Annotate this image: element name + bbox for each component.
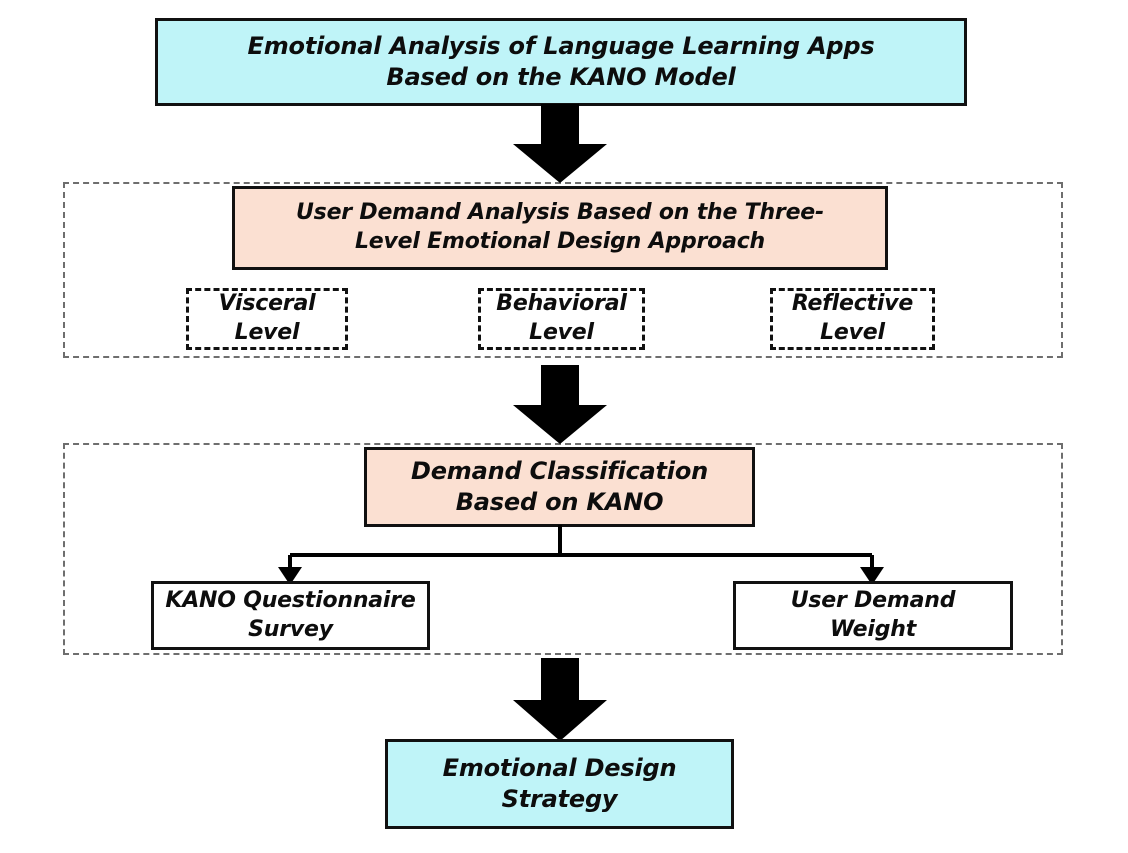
arrow-root-to-demand-analysis <box>510 104 610 184</box>
node-user-demand-analysis-line2: Level Emotional Design Approach <box>355 229 765 254</box>
node-visceral-level-line1: Visceral <box>219 291 316 316</box>
node-demand-classification[interactable]: Demand Classification Based on KANO <box>364 447 755 527</box>
node-visceral-level[interactable]: Visceral Level <box>186 288 348 350</box>
node-reflective-level[interactable]: Reflective Level <box>770 288 935 350</box>
node-emotional-design-strategy[interactable]: Emotional Design Strategy <box>385 739 734 829</box>
node-reflective-level-text: Reflective Level <box>792 290 913 347</box>
arrow-classification-to-strategy <box>510 658 610 742</box>
node-kano-questionnaire-survey-text: KANO Questionnaire Survey <box>165 587 415 644</box>
node-emotional-design-strategy-text: Emotional Design Strategy <box>443 753 677 815</box>
arrow-demand-analysis-to-classification <box>510 365 610 445</box>
node-user-demand-analysis[interactable]: User Demand Analysis Based on the Three-… <box>232 186 888 270</box>
node-root-title-line1: Emotional Analysis of Language Learning … <box>248 32 875 60</box>
node-emotional-design-strategy-line2: Strategy <box>502 785 618 813</box>
node-visceral-level-text: Visceral Level <box>219 290 316 347</box>
connector-classification-split <box>270 525 900 587</box>
node-reflective-level-line2: Level <box>820 320 885 345</box>
node-kano-questionnaire-survey-line2: Survey <box>248 617 333 642</box>
node-demand-classification-text: Demand Classification Based on KANO <box>411 456 708 518</box>
node-reflective-level-line1: Reflective <box>792 291 913 316</box>
node-demand-classification-line2: Based on KANO <box>456 488 664 516</box>
node-root-title[interactable]: Emotional Analysis of Language Learning … <box>155 18 967 106</box>
node-behavioral-level-line2: Level <box>529 320 594 345</box>
node-user-demand-weight-line2: Weight <box>830 617 916 642</box>
node-kano-questionnaire-survey-line1: KANO Questionnaire <box>165 588 415 613</box>
node-emotional-design-strategy-line1: Emotional Design <box>443 754 677 782</box>
node-user-demand-weight-line1: User Demand <box>791 588 956 613</box>
flowchart-canvas: Emotional Analysis of Language Learning … <box>0 0 1128 853</box>
node-behavioral-level[interactable]: Behavioral Level <box>478 288 645 350</box>
node-demand-classification-line1: Demand Classification <box>411 457 708 485</box>
node-root-title-text: Emotional Analysis of Language Learning … <box>248 31 875 93</box>
node-behavioral-level-text: Behavioral Level <box>496 290 626 347</box>
node-behavioral-level-line1: Behavioral <box>496 291 626 316</box>
node-user-demand-analysis-line1: User Demand Analysis Based on the Three- <box>296 200 824 225</box>
node-root-title-line2: Based on the KANO Model <box>386 63 735 91</box>
node-user-demand-weight[interactable]: User Demand Weight <box>733 581 1013 650</box>
node-user-demand-weight-text: User Demand Weight <box>791 587 956 644</box>
node-kano-questionnaire-survey[interactable]: KANO Questionnaire Survey <box>151 581 430 650</box>
node-visceral-level-line2: Level <box>235 320 300 345</box>
node-user-demand-analysis-text: User Demand Analysis Based on the Three-… <box>296 199 824 256</box>
